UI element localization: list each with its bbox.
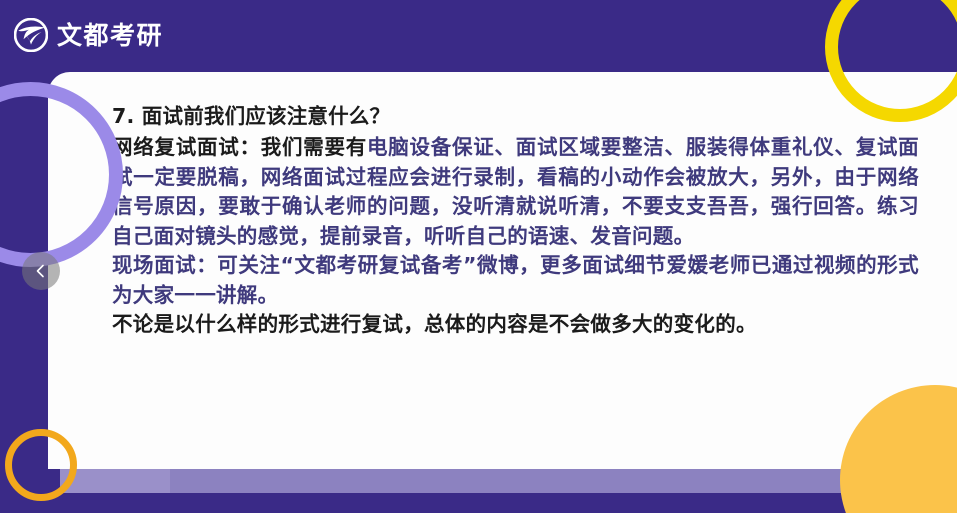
orange-ring-decoration [5, 429, 77, 501]
paragraph-onsite-interview: 现场面试：可关注“文都考研复试备考”微博，更多面试细节爱媛老师已通过视频的形式为… [112, 251, 919, 310]
slide-stage: 7. 面试前我们应该注意什么？ 网络复试面试：我们需要有电脑设备保证、面试区域要… [0, 0, 957, 513]
content-card: 7. 面试前我们应该注意什么？ 网络复试面试：我们需要有电脑设备保证、面试区域要… [48, 72, 957, 469]
wendu-circle-swoosh-logo-icon [14, 18, 48, 52]
paragraph-lead-label: 网络复试面试：我们需要有 [112, 135, 367, 159]
chevron-left-icon [33, 263, 49, 279]
lavender-band-shadow-decoration [60, 469, 170, 493]
lavender-band-decoration [60, 469, 957, 493]
brand-name: 文都考研 [57, 23, 163, 48]
paragraph-conclusion: 不论是以什么样的形式进行复试，总体的内容是不会做多大的变化的。 [112, 310, 919, 340]
brand-logo: 文都考研 [14, 18, 163, 52]
question-title: 7. 面试前我们应该注意什么？ [112, 102, 919, 131]
header-bar: 文都考研 [0, 0, 957, 74]
paragraph-online-interview: 网络复试面试：我们需要有电脑设备保证、面试区域要整洁、服装得体重礼仪、复试面试一… [112, 133, 919, 251]
content-body: 7. 面试前我们应该注意什么？ 网络复试面试：我们需要有电脑设备保证、面试区域要… [48, 72, 957, 340]
prev-page-button[interactable] [22, 252, 60, 290]
